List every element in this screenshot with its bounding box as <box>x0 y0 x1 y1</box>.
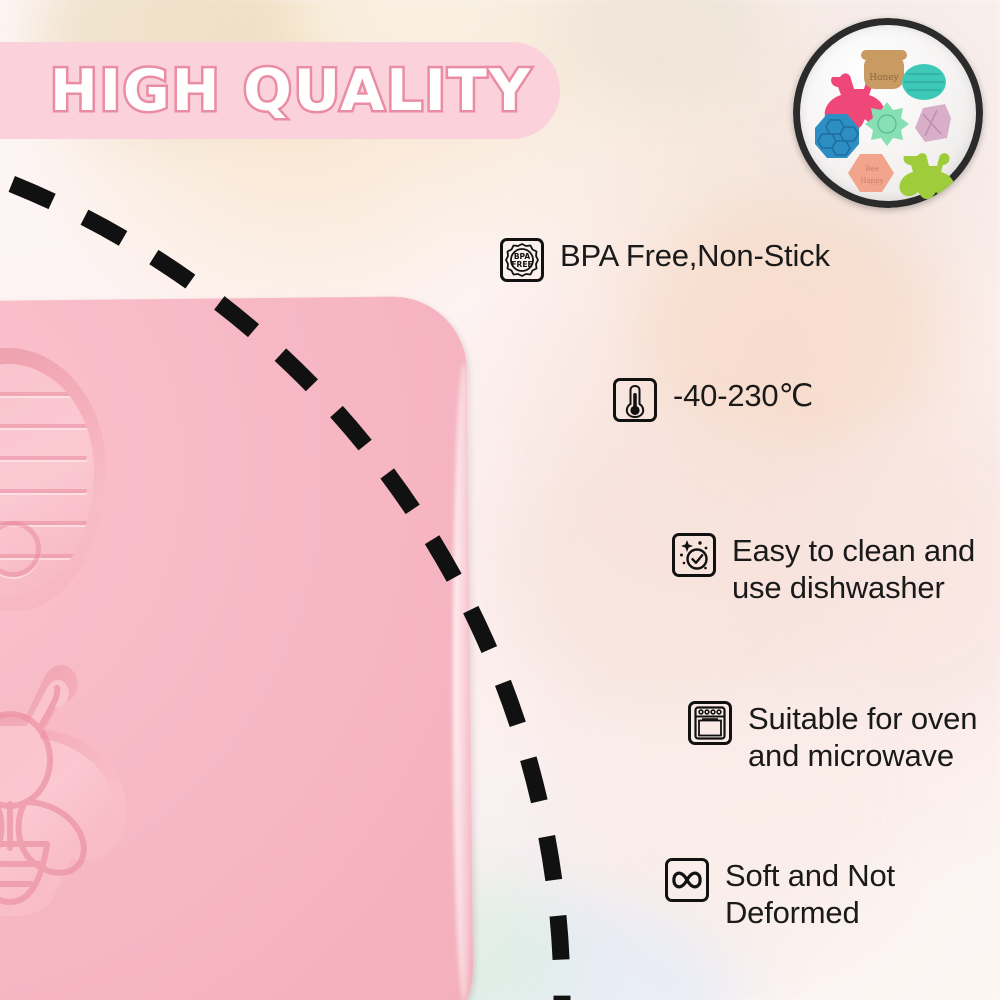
sparkle-check-icon <box>672 533 716 577</box>
feature-item-soft: Soft and Not Deformed <box>665 858 895 931</box>
feature-item-oven: Suitable for oven and microwave <box>688 701 977 774</box>
feature-label: -40-230℃ <box>673 378 813 415</box>
feature-item-easy-clean: Easy to clean and use dishwasher <box>672 533 975 606</box>
feature-item-temperature: -40-230℃ <box>613 378 813 422</box>
candy-honey-dipper <box>915 104 951 142</box>
high-quality-banner: HIGH QUALITY <box>0 42 560 139</box>
candy-beehive <box>902 64 946 100</box>
svg-text:Bee: Bee <box>865 165 878 173</box>
candy-hexagon: Bee Happy <box>848 154 894 192</box>
feature-label: BPA Free,Non-Stick <box>560 238 830 275</box>
thermometer-icon <box>613 378 657 422</box>
infinity-icon <box>665 858 709 902</box>
feature-label: Suitable for oven and microwave <box>748 701 977 774</box>
feature-label: Easy to clean and use dishwasher <box>732 533 975 606</box>
cavity-beehive <box>0 348 106 611</box>
svg-text:FREE: FREE <box>511 260 532 269</box>
svg-text:Honey: Honey <box>869 73 899 83</box>
cavity-bee <box>0 652 145 920</box>
inset-product-photo: Honey <box>793 18 983 208</box>
product-feature-image: Be Happ <box>0 0 1000 1000</box>
oven-icon <box>688 701 732 745</box>
candy-flower-bee <box>865 102 909 146</box>
bpa-free-icon: BPA FREE <box>500 238 544 282</box>
candy-honeycomb <box>815 114 859 158</box>
svg-text:Happy: Happy <box>860 177 883 185</box>
candy-bee-green <box>900 153 955 199</box>
silicone-mold: Be Happ <box>0 300 470 1000</box>
feature-label: Soft and Not Deformed <box>725 858 895 931</box>
candy-honey-pot: Honey <box>861 50 907 89</box>
banner-title: HIGH QUALITY <box>50 58 532 124</box>
feature-item-bpa-free: BPA FREE BPA Free,Non-Stick <box>500 238 830 282</box>
